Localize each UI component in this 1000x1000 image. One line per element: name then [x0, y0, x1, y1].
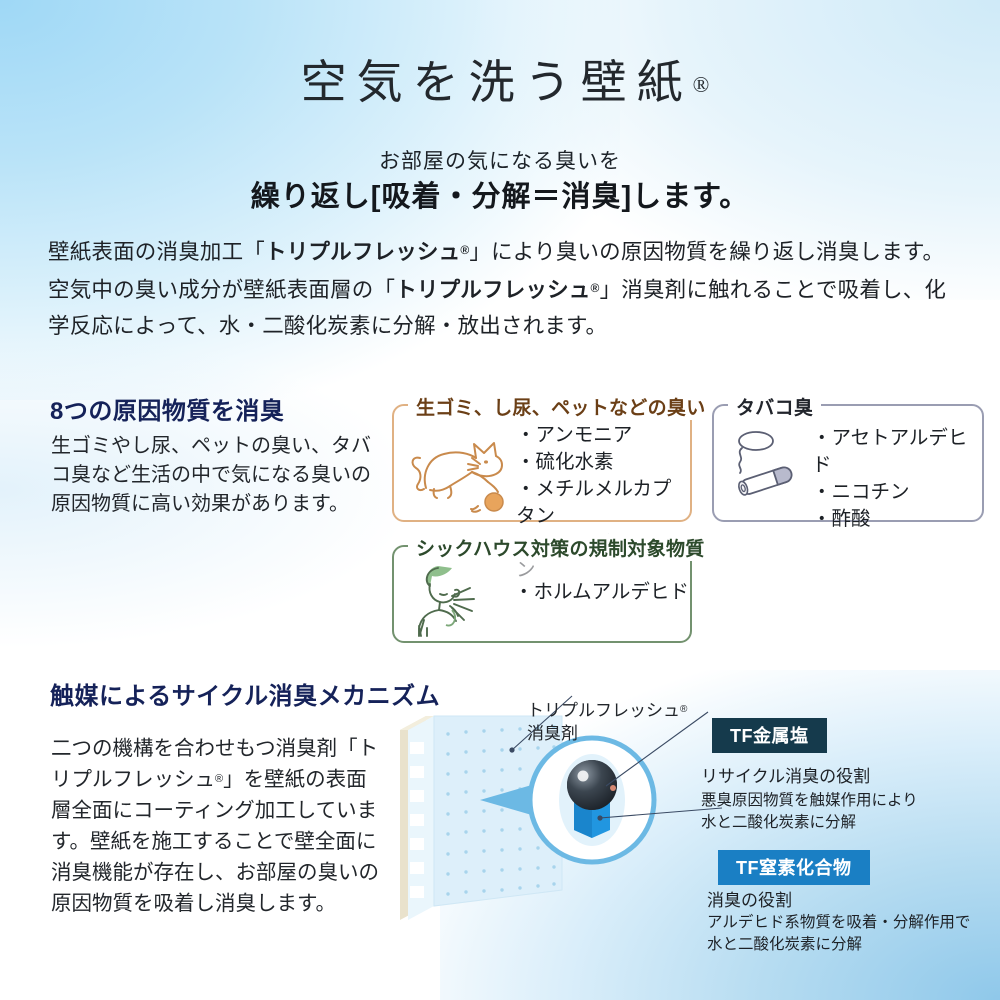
coughing-person-icon — [412, 560, 508, 638]
cat-icon — [408, 430, 518, 515]
tf-metal-salt-desc-line-1: 悪臭原因物質を触媒作用により — [701, 792, 918, 809]
list-item: ・アセトアルデヒド — [812, 425, 982, 479]
cigarette-icon — [726, 428, 812, 506]
list-item: ・ニコチン — [812, 479, 982, 506]
tf-metal-salt-badge: TF金属塩 — [712, 718, 827, 753]
page-title-text: 空気を洗う壁紙 — [301, 57, 693, 108]
tf-nitrogen-role: 消臭の役割 — [707, 886, 792, 911]
tf-nitrogen-desc-line-2: 水と二酸化炭素に分解 — [707, 936, 862, 953]
subtitle-line-2: 繰り返し[吸着・分解＝消臭]します。 — [0, 173, 1000, 215]
list-item: ・アンモニア — [516, 422, 690, 449]
odor-box-pet-title: 生ゴミ、し尿、ペットなどの臭い — [408, 393, 714, 420]
odor-box-sickhouse-title: シックハウス対策の規制対象物質 — [408, 534, 713, 561]
diagram-caption-line-1: トリプルフレッシュ — [527, 701, 680, 720]
tf-metal-salt-role: リサイクル消臭の役割 — [701, 762, 870, 787]
diagram-caption: トリプルフレッシュ® 消臭剤 — [527, 698, 687, 745]
registered-trademark-icon: ® — [591, 281, 600, 295]
section-1-heading: 8つの原因物質を消臭 — [50, 391, 284, 426]
section-1-body: 生ゴミやし尿、ペットの臭い、タバコ臭など生活の中で気になる臭いの原因物質に高い効… — [51, 432, 371, 519]
odor-box-tobacco-list: ・アセトアルデヒド ・ニコチン ・酢酸 — [812, 425, 982, 533]
subtitle-line-1: お部屋の気になる臭いを — [0, 145, 1000, 175]
tf-metal-salt-desc-line-2: 水と二酸化炭素に分解 — [701, 814, 856, 831]
tf-metal-salt-sphere — [567, 760, 617, 810]
diagram-caption-line-2: 消臭剤 — [527, 724, 578, 743]
registered-trademark-icon: ® — [693, 72, 710, 97]
lead-brand-2: トリプルフレッシュ® — [395, 278, 599, 302]
wallpaper-surface-edge — [408, 716, 434, 920]
tf-metal-salt-description: 悪臭原因物質を触媒作用により 水と二酸化炭素に分解 — [701, 790, 918, 834]
odor-box-sickhouse-list: ・ホルムアルデヒド — [514, 579, 689, 606]
page-title: 空気を洗う壁紙® — [0, 46, 1000, 112]
list-item: ・ホルムアルデヒド — [514, 579, 689, 606]
list-item: ・硫化水素 — [516, 449, 690, 476]
list-item: ・メチルメルカプタン — [516, 476, 690, 530]
list-item: ・酢酸 — [812, 506, 982, 533]
tf-nitrogen-description: アルデヒド系物質を吸着・分解作用で 水と二酸化炭素に分解 — [707, 912, 970, 956]
lead-part-1: 壁紙表面の消臭加工「 — [48, 240, 265, 264]
magnified-detail-circle — [530, 738, 654, 862]
tf-nitrogen-badge: TF窒素化合物 — [718, 850, 870, 885]
odor-box-tobacco-title: タバコ臭 — [728, 393, 821, 420]
registered-trademark-icon: ® — [215, 773, 223, 785]
lead-brand-1: トリプルフレッシュ® — [265, 240, 469, 264]
registered-trademark-icon: ® — [680, 704, 687, 715]
tf-nitrogen-desc-line-1: アルデヒド系物質を吸着・分解作用で — [707, 914, 970, 931]
section-2-heading: 触媒によるサイクル消臭メカニズム — [50, 676, 440, 711]
lead-paragraph: 壁紙表面の消臭加工「トリプルフレッシュ®」により臭いの原因物質を繰り返し消臭しま… — [48, 232, 954, 344]
section-2-body: 二つの機構を合わせもつ消臭剤「トリプルフレッシュ®」を壁紙の表面層全面にコーティ… — [51, 733, 381, 919]
